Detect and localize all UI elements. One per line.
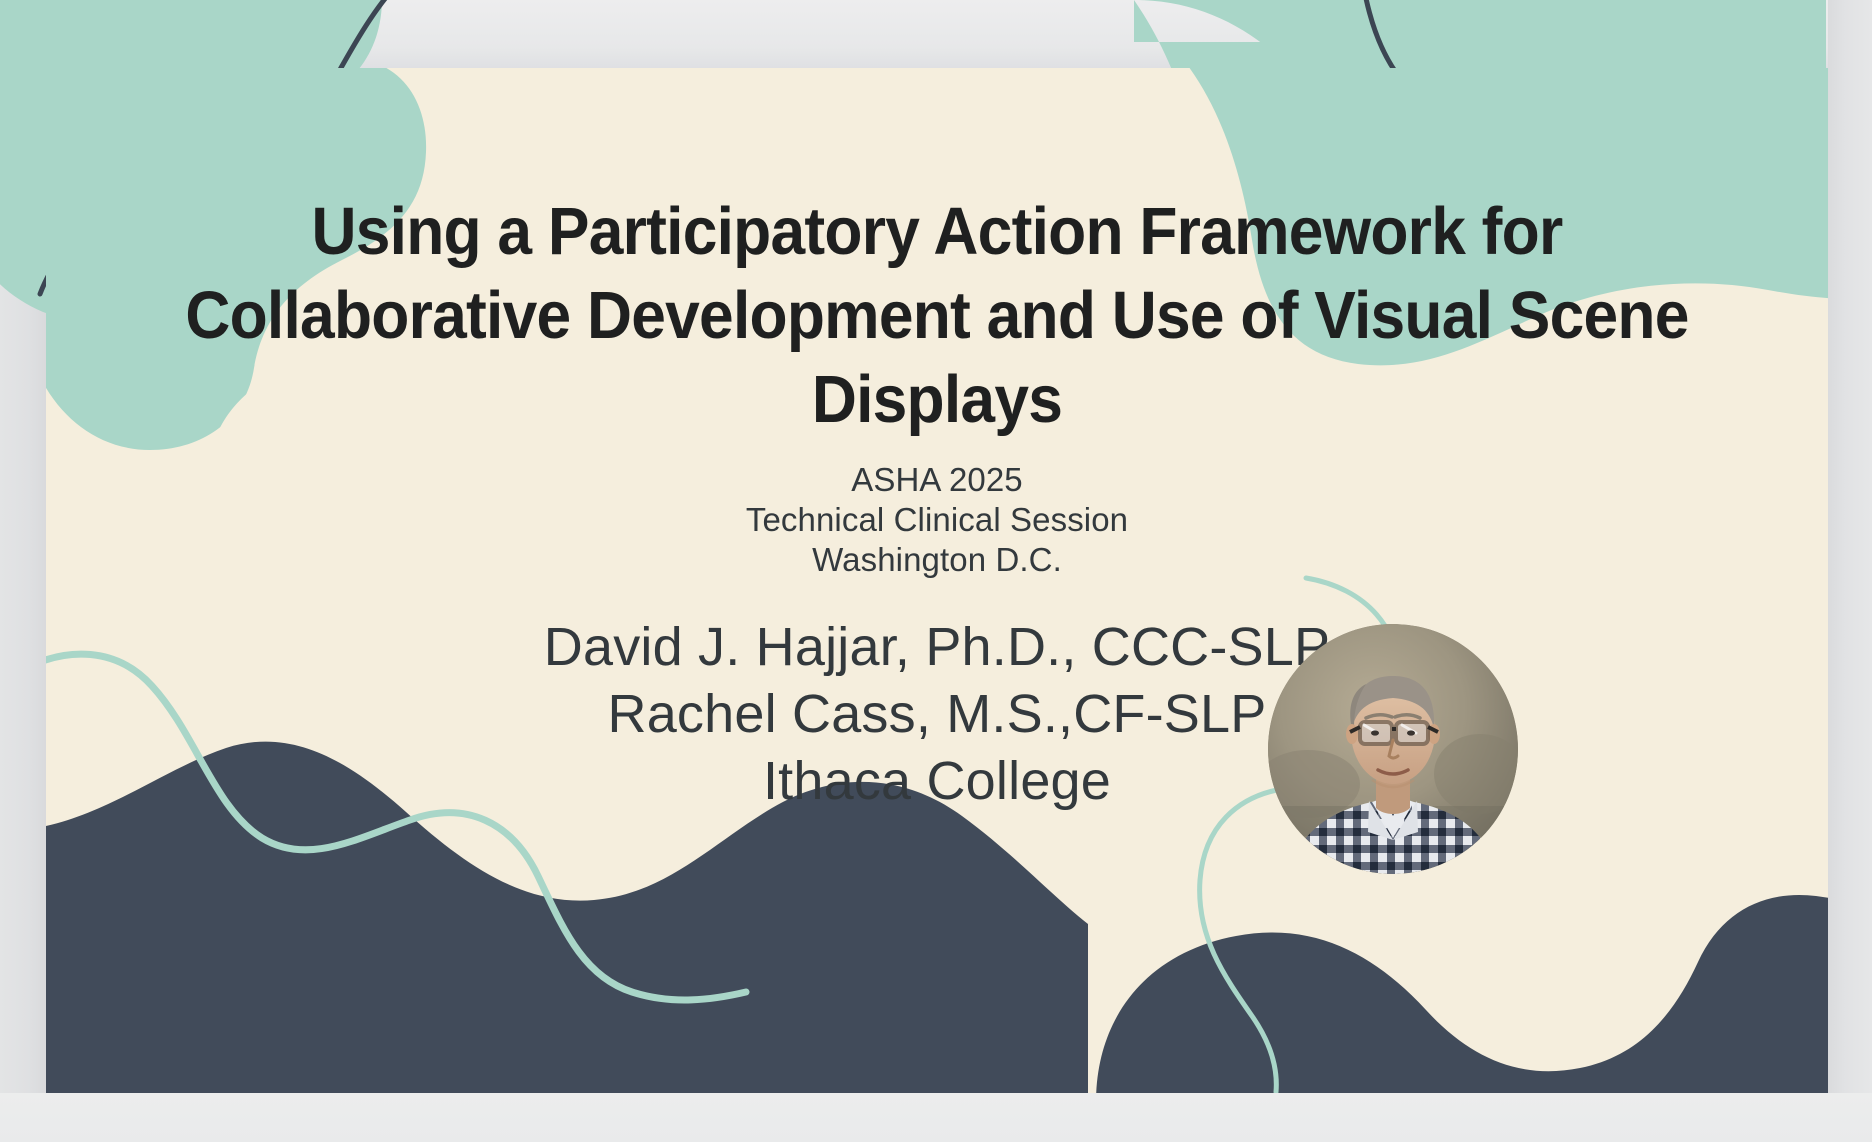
- page-title: Using a Participatory Action Framework f…: [164, 190, 1710, 442]
- author-affiliation: Ithaca College: [106, 748, 1768, 815]
- subtitle-line-event: ASHA 2025: [106, 460, 1768, 500]
- viewer-right-gutter: [1828, 0, 1872, 1142]
- slide-authors: David J. Hajjar, Ph.D., CCC-SLP Rachel C…: [106, 614, 1768, 815]
- author-primary: David J. Hajjar, Ph.D., CCC-SLP: [106, 614, 1768, 681]
- author-secondary: Rachel Cass, M.S.,CF-SLP: [106, 681, 1768, 748]
- subtitle-line-location: Washington D.C.: [106, 540, 1768, 580]
- slide-surface: Using a Participatory Action Framework f…: [46, 68, 1828, 1093]
- viewer-bottom-band: [0, 1093, 1872, 1142]
- slide-text-block: Using a Participatory Action Framework f…: [46, 68, 1828, 1093]
- viewer-left-gutter: [0, 0, 46, 1142]
- presenter-avatar: [1268, 624, 1518, 874]
- presenter-video-bubble[interactable]: [1268, 624, 1518, 874]
- slide[interactable]: Using a Participatory Action Framework f…: [46, 68, 1828, 1093]
- slide-subtitle: ASHA 2025 Technical Clinical Session Was…: [106, 460, 1768, 580]
- subtitle-line-session: Technical Clinical Session: [106, 500, 1768, 540]
- viewer-top-band: [0, 0, 1872, 68]
